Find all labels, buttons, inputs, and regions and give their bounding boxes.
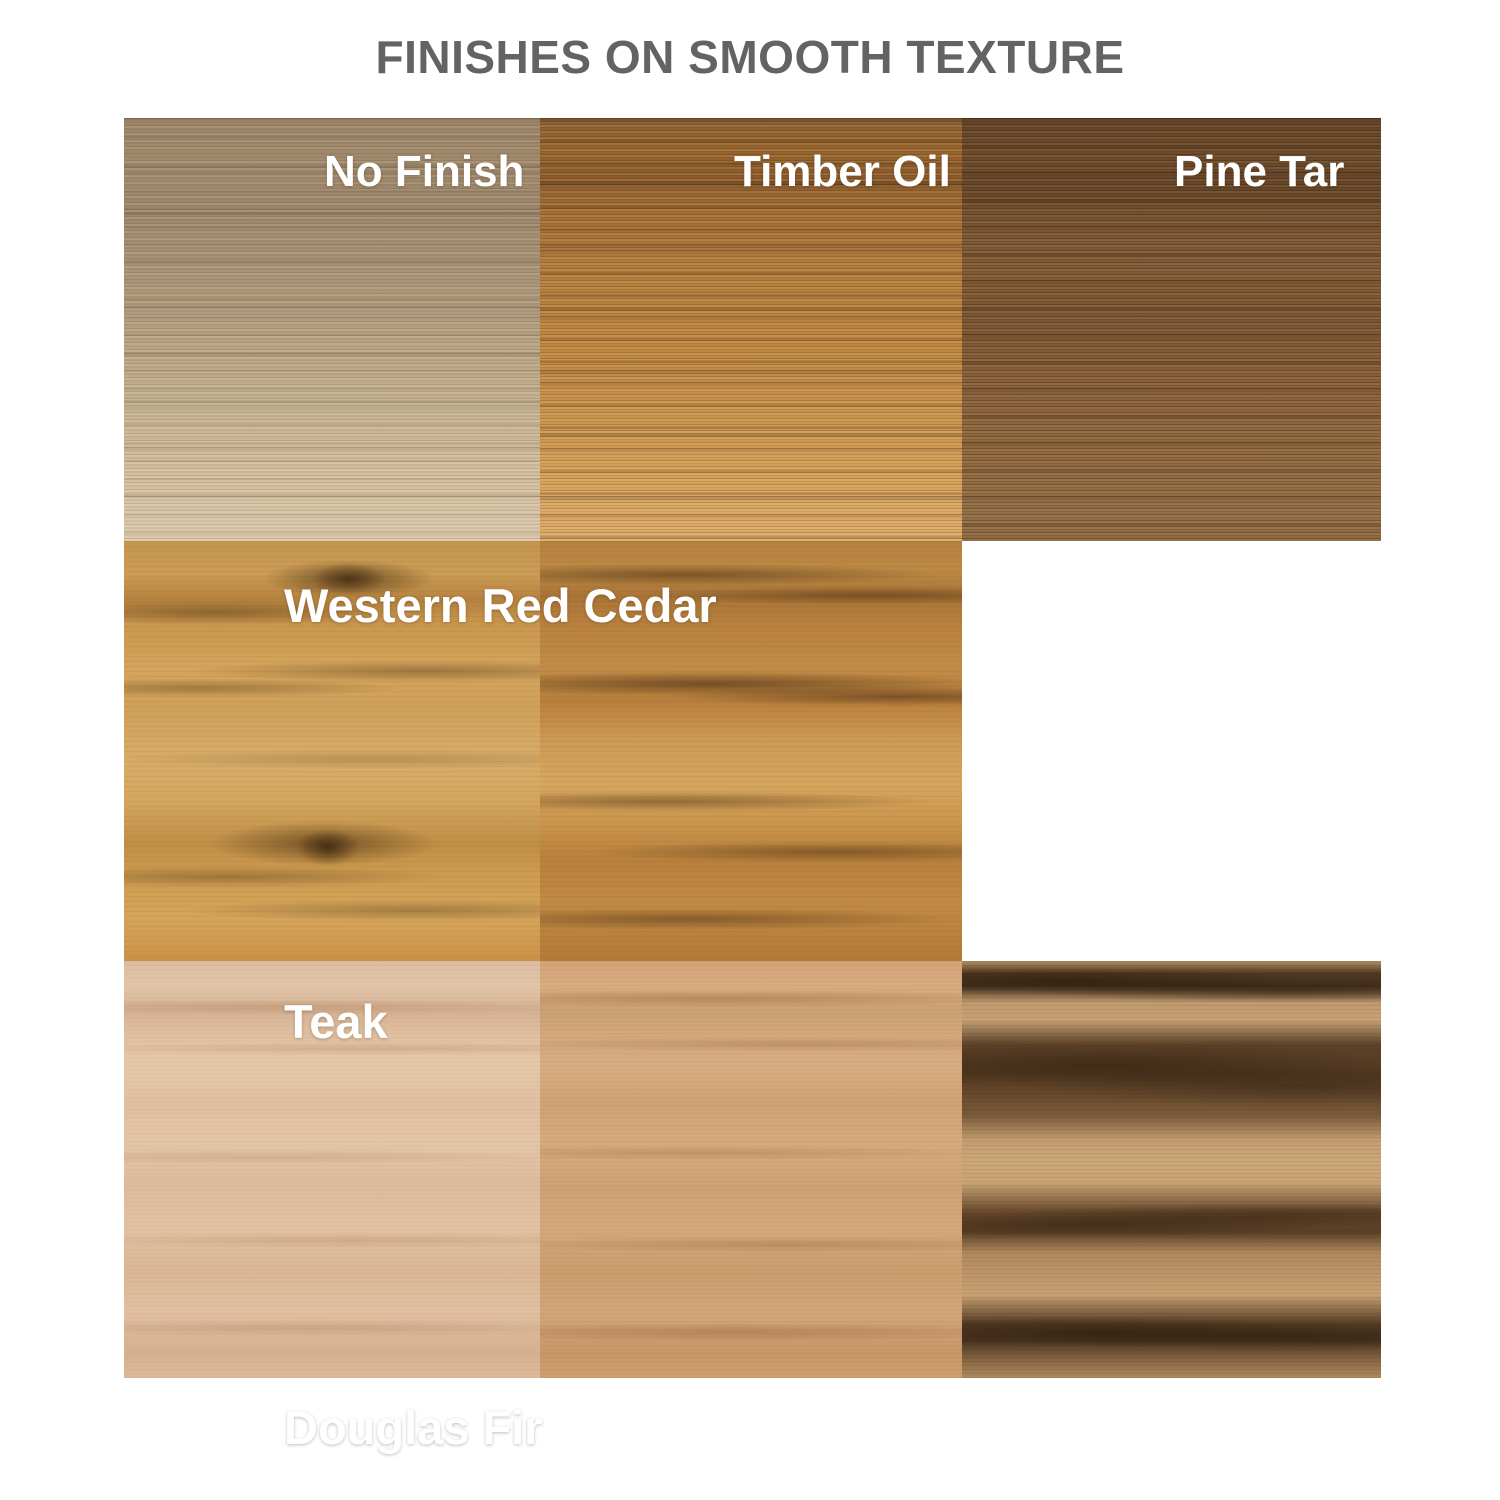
page-title: FINISHES ON SMOOTH TEXTURE	[0, 30, 1500, 84]
sample-cell-douglas-fir-pine-tar[interactable]	[962, 961, 1381, 1378]
wood-finish-sample-grid: No Finish Timber Oil Pine Tar Western Re…	[124, 118, 1381, 1378]
column-label-timber-oil: Timber Oil	[734, 147, 951, 197]
row-label-western-red-cedar: Western Red Cedar	[284, 578, 717, 633]
row-label-douglas-fir: Douglas Fir	[284, 1400, 543, 1455]
sample-cell-douglas-fir-timber-oil[interactable]	[540, 961, 962, 1378]
row-label-teak: Teak	[284, 994, 388, 1049]
wood-texture-fir-pine-tar	[962, 961, 1381, 1378]
column-label-pine-tar: Pine Tar	[1174, 147, 1344, 197]
column-label-no-finish: No Finish	[324, 147, 524, 197]
wood-texture-fir-timber-oil	[540, 961, 962, 1378]
